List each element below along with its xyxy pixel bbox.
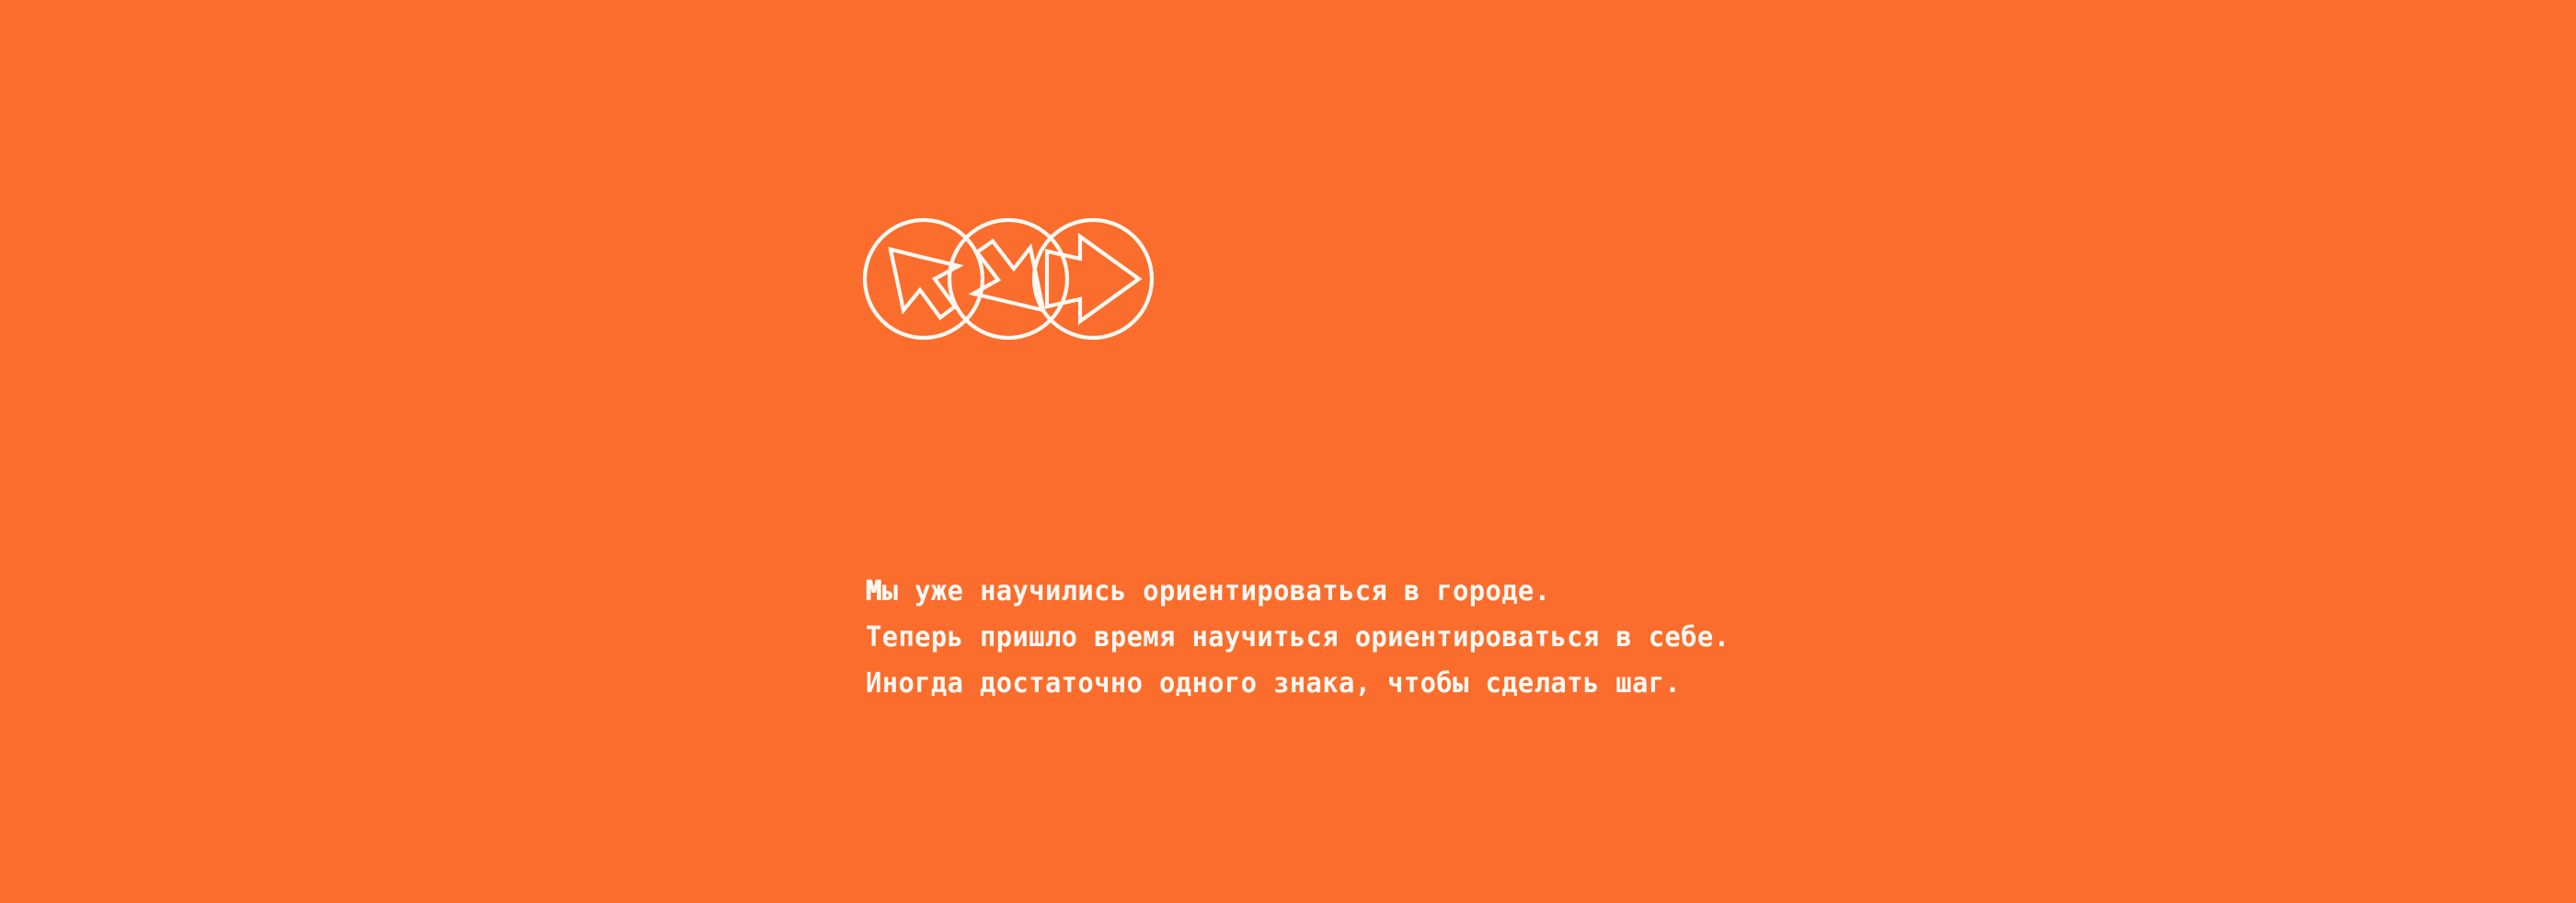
poster-canvas: Мы уже научились ориентироваться в город… bbox=[0, 0, 2576, 903]
logo-circle-east bbox=[1034, 220, 1152, 338]
tagline-line-1-lead: М bbox=[866, 575, 882, 608]
tagline-line-3: Иногда достаточно одного знака, чтобы сд… bbox=[866, 661, 2191, 707]
circle-outline-3 bbox=[1034, 220, 1152, 338]
tagline-line-1: Мы уже научились ориентироваться в город… bbox=[866, 569, 2191, 615]
tagline-block: Мы уже научились ориентироваться в город… bbox=[866, 569, 2246, 707]
tagline-line-1-rest: ы уже научились ориентироваться в городе… bbox=[882, 575, 1551, 608]
three-circle-arrows-logo bbox=[863, 214, 1213, 343]
tagline-line-2: Теперь пришло время научиться ориентиров… bbox=[866, 615, 2191, 661]
